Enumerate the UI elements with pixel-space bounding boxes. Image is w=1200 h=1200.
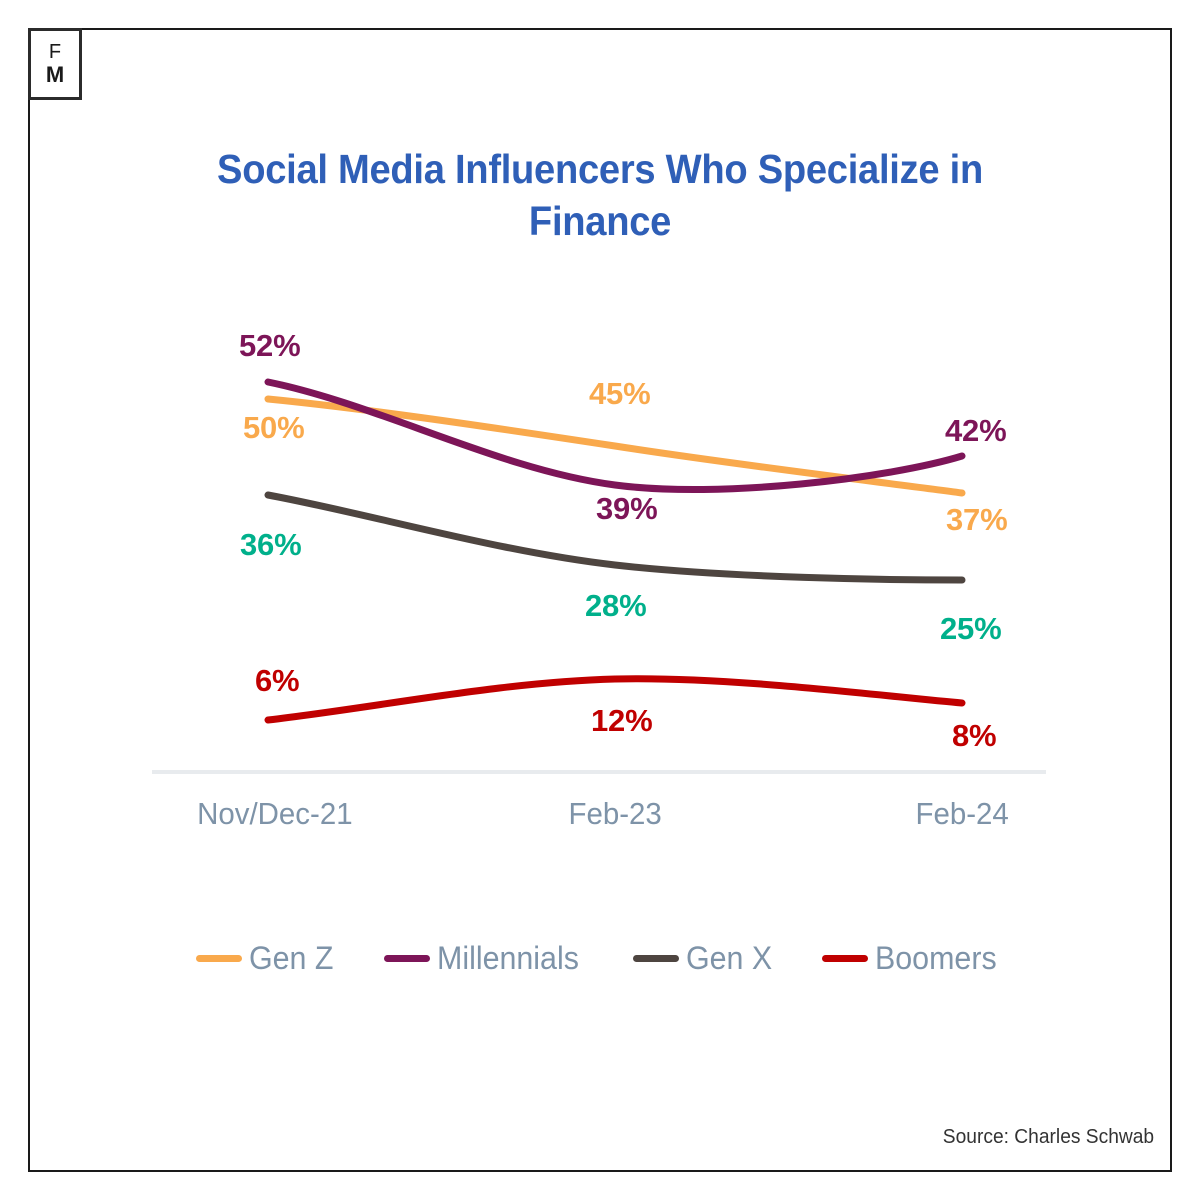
chart-legend: Gen Z Millennials Gen X Boomers [152, 940, 1048, 977]
x-tick-feb-24: Feb-24 [915, 796, 1008, 832]
brand-logo: F M [28, 28, 82, 100]
data-label-boomers-feb-23: 12% [591, 703, 652, 739]
logo-letter-m: M [46, 63, 64, 87]
legend-item-gen-z[interactable]: Gen Z [196, 940, 338, 977]
legend-label-boomers: Boomers [875, 940, 997, 977]
legend-swatch-gen-x-icon [633, 955, 679, 962]
data-label-millennials-nov-dec-21: 52% [239, 328, 300, 364]
legend-swatch-boomers-icon [822, 955, 868, 962]
data-label-boomers-nov-dec-21: 6% [255, 663, 299, 699]
legend-label-millennials: Millennials [437, 940, 579, 977]
data-label-gen-z-feb-23: 45% [589, 376, 650, 412]
chart-canvas: F M Social Media Influencers Who Special… [0, 0, 1200, 1200]
data-label-gen-x-nov-dec-21: 36% [240, 527, 301, 563]
data-label-boomers-feb-24: 8% [952, 718, 996, 754]
data-label-gen-x-feb-24: 25% [940, 611, 1001, 647]
legend-item-gen-x[interactable]: Gen X [633, 940, 777, 977]
data-label-gen-x-feb-23: 28% [585, 588, 646, 624]
legend-item-boomers[interactable]: Boomers [822, 940, 1003, 977]
data-label-gen-z-feb-24: 37% [946, 502, 1007, 538]
legend-item-millennials[interactable]: Millennials [384, 940, 586, 977]
x-tick-feb-23: Feb-23 [568, 796, 661, 832]
legend-swatch-millennials-icon [384, 955, 430, 962]
data-label-gen-z-nov-dec-21: 50% [243, 410, 304, 446]
chart-title: Social Media Influencers Who Specialize … [154, 143, 1047, 247]
legend-swatch-gen-z-icon [196, 955, 242, 962]
legend-label-gen-x: Gen X [686, 940, 772, 977]
source-note: Source: Charles Schwab [943, 1126, 1154, 1149]
x-tick-nov-dec-21: Nov/Dec-21 [197, 796, 353, 832]
data-label-millennials-feb-24: 42% [945, 413, 1006, 449]
data-label-millennials-feb-23: 39% [596, 491, 657, 527]
logo-letter-f: F [49, 41, 61, 63]
legend-label-gen-z: Gen Z [249, 940, 333, 977]
